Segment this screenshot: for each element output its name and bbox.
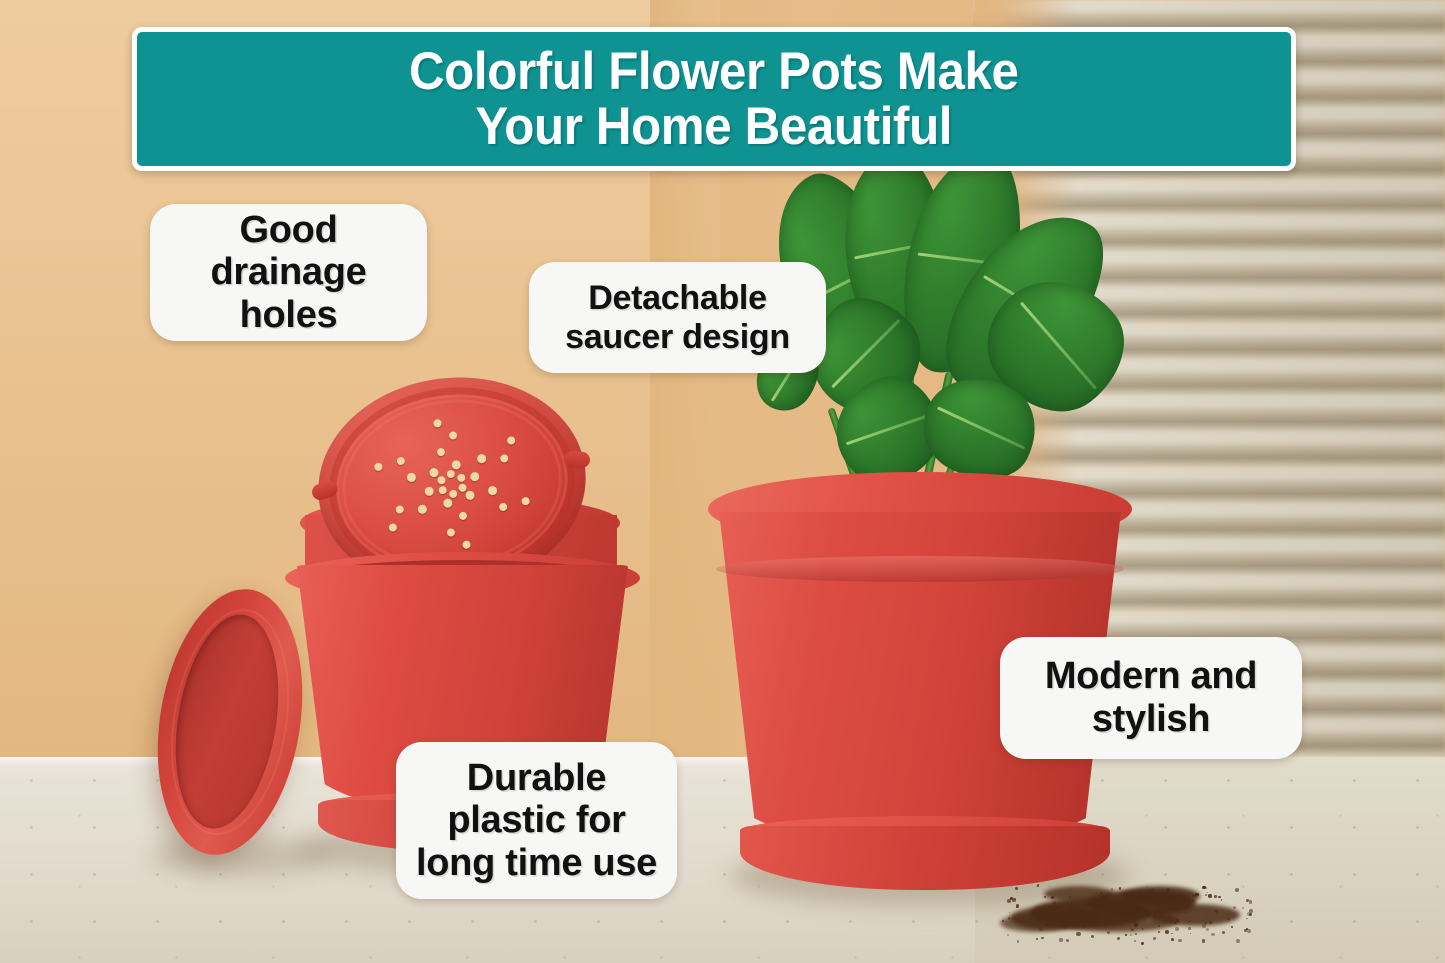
soil-fleck <box>1178 939 1181 942</box>
soil-fleck <box>1140 895 1142 897</box>
callout-modern-and-stylish: Modern and stylish <box>1000 637 1302 759</box>
soil-fleck <box>1036 938 1037 939</box>
soil-fleck <box>1032 911 1034 913</box>
soil-fleck <box>1080 909 1082 911</box>
callout-detachable-saucer-design: Detachable saucer design <box>529 262 826 373</box>
soil-fleck <box>1121 905 1125 909</box>
soil-fleck <box>1166 888 1170 892</box>
soil-fleck <box>1017 940 1019 942</box>
soil-fleck <box>1141 942 1144 945</box>
soil-fleck <box>1120 911 1123 914</box>
banner-title: Colorful Flower Pots Make Your Home Beau… <box>409 44 1019 154</box>
soil-fleck <box>1221 899 1223 901</box>
soil-fleck <box>1063 925 1067 929</box>
soil-fleck <box>1063 912 1064 913</box>
soil-fleck <box>1099 900 1103 904</box>
soil-fleck <box>1246 918 1248 920</box>
soil-fleck <box>1037 884 1039 886</box>
soil-fleck <box>1218 896 1221 899</box>
soil-fleck <box>1130 934 1132 936</box>
soil-fleck <box>1134 940 1136 942</box>
soil-clump <box>1150 904 1240 926</box>
soil-fleck <box>1039 927 1043 931</box>
soil-fleck <box>1202 939 1206 943</box>
soil-fleck <box>1133 892 1136 895</box>
product-infographic: Colorful Flower Pots Make Your Home Beau… <box>0 0 1445 963</box>
soil-fleck <box>1205 894 1207 896</box>
soil-fleck <box>1015 898 1016 899</box>
soil-fleck <box>1214 895 1217 898</box>
spilled-soil <box>1000 880 1260 950</box>
soil-fleck <box>1088 902 1091 905</box>
soil-fleck <box>1008 917 1010 919</box>
soil-fleck <box>1069 905 1071 907</box>
soil-fleck <box>1207 892 1208 893</box>
soil-fleck <box>1102 895 1104 897</box>
soil-fleck <box>1053 901 1056 904</box>
soil-fleck <box>1152 888 1154 890</box>
soil-fleck <box>1134 923 1138 927</box>
callout-label: Detachable saucer design <box>565 279 790 355</box>
soil-fleck <box>1171 938 1174 941</box>
soil-fleck <box>1188 921 1190 923</box>
soil-fleck <box>1247 929 1251 933</box>
soil-fleck <box>1233 906 1236 909</box>
soil-fleck <box>1076 907 1078 909</box>
soil-fleck <box>1119 887 1121 889</box>
soil-fleck <box>1195 893 1199 897</box>
soil-fleck <box>1066 939 1069 942</box>
soil-fleck <box>1235 888 1239 892</box>
soil-fleck <box>1147 891 1151 895</box>
callout-durable-plastic: Durable plastic for long time use <box>396 742 677 899</box>
soil-clump <box>1000 914 1070 932</box>
soil-fleck <box>1167 917 1168 918</box>
soil-fleck <box>1107 931 1109 933</box>
soil-fleck <box>1242 907 1244 909</box>
drainage-hole <box>407 472 417 482</box>
lid-tab-right <box>564 451 591 468</box>
soil-fleck <box>1249 909 1253 913</box>
soil-fleck <box>1249 900 1252 903</box>
callout-good-drainage-holes: Good drainage holes <box>150 204 427 341</box>
soil-fleck <box>1236 939 1240 943</box>
soil-fleck <box>1172 894 1176 898</box>
soil-fleck <box>1117 937 1120 940</box>
soil-fleck <box>1016 906 1018 908</box>
soil-fleck <box>1211 933 1214 936</box>
soil-fleck <box>1015 887 1018 890</box>
soil-fleck <box>1158 931 1160 933</box>
soil-fleck <box>1076 932 1080 936</box>
soil-fleck <box>1059 938 1062 941</box>
soil-fleck <box>1002 920 1004 922</box>
soil-fleck <box>1222 931 1225 934</box>
soil-fleck <box>1105 897 1109 901</box>
soil-fleck <box>1111 888 1114 891</box>
soil-fleck <box>1171 897 1173 899</box>
soil-fleck <box>1175 927 1179 931</box>
title-banner: Colorful Flower Pots Make Your Home Beau… <box>132 27 1296 171</box>
soil-fleck <box>1190 933 1191 934</box>
soil-fleck <box>1171 933 1173 935</box>
soil-fleck <box>1231 926 1233 928</box>
soil-fleck <box>1206 928 1209 931</box>
soil-fleck <box>1188 927 1191 930</box>
soil-fleck <box>1206 887 1208 889</box>
soil-fleck <box>1010 897 1013 900</box>
soil-fleck <box>1135 933 1137 935</box>
soil-fleck <box>1007 934 1009 936</box>
soil-fleck <box>1056 915 1059 918</box>
soil-fleck <box>1135 911 1137 913</box>
soil-fleck <box>1153 937 1156 940</box>
soil-fleck <box>1009 912 1010 913</box>
soil-fleck <box>1165 930 1169 934</box>
soil-fleck <box>1045 922 1049 926</box>
soil-fleck <box>1176 919 1179 922</box>
soil-fleck <box>1192 900 1194 902</box>
soil-fleck <box>1208 894 1211 897</box>
callout-label: Good drainage holes <box>211 209 367 337</box>
right-pot-seam <box>716 556 1124 582</box>
soil-fleck <box>1205 922 1207 924</box>
soil-fleck <box>1202 924 1206 928</box>
soil-fleck <box>1093 904 1097 908</box>
soil-fleck <box>1091 935 1095 939</box>
soil-fleck <box>1041 937 1044 940</box>
soil-fleck <box>1206 914 1207 915</box>
callout-label: Durable plastic for long time use <box>416 757 657 885</box>
soil-fleck <box>1084 908 1085 909</box>
soil-fleck <box>1086 896 1087 897</box>
soil-fleck <box>1125 934 1126 935</box>
soil-fleck <box>1146 913 1150 917</box>
callout-label: Modern and stylish <box>1045 655 1257 740</box>
